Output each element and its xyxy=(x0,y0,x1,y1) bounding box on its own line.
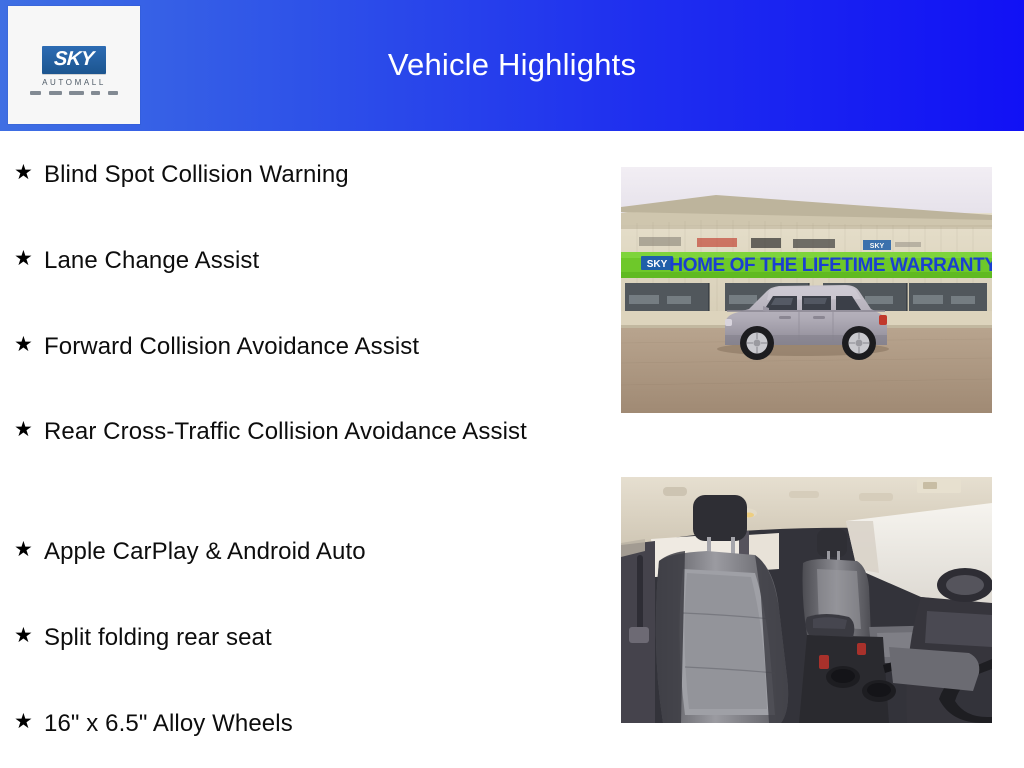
sky-logo-text: SKY xyxy=(53,49,94,70)
feature-item: ★ Rear Cross-Traffic Collision Avoidance… xyxy=(14,415,559,449)
feature-item: ★ Lane Change Assist xyxy=(14,244,574,278)
ram-logo-icon: Ram xyxy=(91,91,100,95)
dealer-logo-inner: SKY AUTOMALL Chrysler Dodge Jeep Ram Fia… xyxy=(8,46,140,96)
interior-photo[interactable] xyxy=(621,477,992,723)
feature-item: ★ Blind Spot Collision Warning xyxy=(14,158,574,192)
feature-label: Lane Change Assist xyxy=(44,244,574,278)
star-bullet-icon: ★ xyxy=(14,707,44,737)
feature-item: ★ 16" x 6.5" Alloy Wheels xyxy=(14,707,574,741)
feature-item: ★ Forward Collision Avoidance Assist xyxy=(14,330,574,364)
dodge-logo-icon: Dodge xyxy=(49,91,62,95)
star-bullet-icon: ★ xyxy=(14,535,44,565)
feature-label: Split folding rear seat xyxy=(44,621,574,655)
star-bullet-icon: ★ xyxy=(14,330,44,360)
feature-label: Rear Cross-Traffic Collision Avoidance A… xyxy=(44,415,559,449)
star-bullet-icon: ★ xyxy=(14,415,44,445)
svg-text:SKY: SKY xyxy=(870,243,885,250)
feature-label: 16" x 6.5" Alloy Wheels xyxy=(44,707,574,741)
dealer-logo[interactable]: SKY AUTOMALL Chrysler Dodge Jeep Ram Fia… xyxy=(8,6,140,124)
feature-label: Forward Collision Avoidance Assist xyxy=(44,330,574,364)
chrysler-logo-icon: Chrysler xyxy=(30,91,41,95)
svg-text:SKY: SKY xyxy=(647,259,668,270)
interior-photo-artwork xyxy=(621,477,992,723)
page-title: Vehicle Highlights xyxy=(0,46,1024,84)
vehicle-features-list: ★ Blind Spot Collision Warning ★ Lane Ch… xyxy=(0,131,600,768)
feature-label: Apple CarPlay & Android Auto xyxy=(44,535,574,569)
automall-logo-text: AUTOMALL xyxy=(8,78,140,88)
oem-brand-logos: Chrysler Dodge Jeep Ram Fiat xyxy=(8,90,140,96)
svg-text:HOME OF THE LIFETIME WARRANTY: HOME OF THE LIFETIME WARRANTY xyxy=(669,255,992,276)
star-bullet-icon: ★ xyxy=(14,158,44,188)
feature-item: ★ Split folding rear seat xyxy=(14,621,574,655)
feature-item: ★ Apple CarPlay & Android Auto xyxy=(14,535,574,569)
star-bullet-icon: ★ xyxy=(14,621,44,651)
jeep-logo-icon: Jeep xyxy=(69,91,84,95)
exterior-photo-artwork: SKY SKY HOME OF THE LIFETIME WARRANTY xyxy=(621,167,992,413)
fiat-logo-icon: Fiat xyxy=(108,91,118,95)
exterior-photo[interactable]: SKY SKY HOME OF THE LIFETIME WARRANTY xyxy=(621,167,992,413)
sky-logo-plate: SKY xyxy=(42,46,106,74)
feature-label: Blind Spot Collision Warning xyxy=(44,158,574,192)
star-bullet-icon: ★ xyxy=(14,244,44,274)
page-header: Vehicle Highlights xyxy=(0,0,1024,131)
